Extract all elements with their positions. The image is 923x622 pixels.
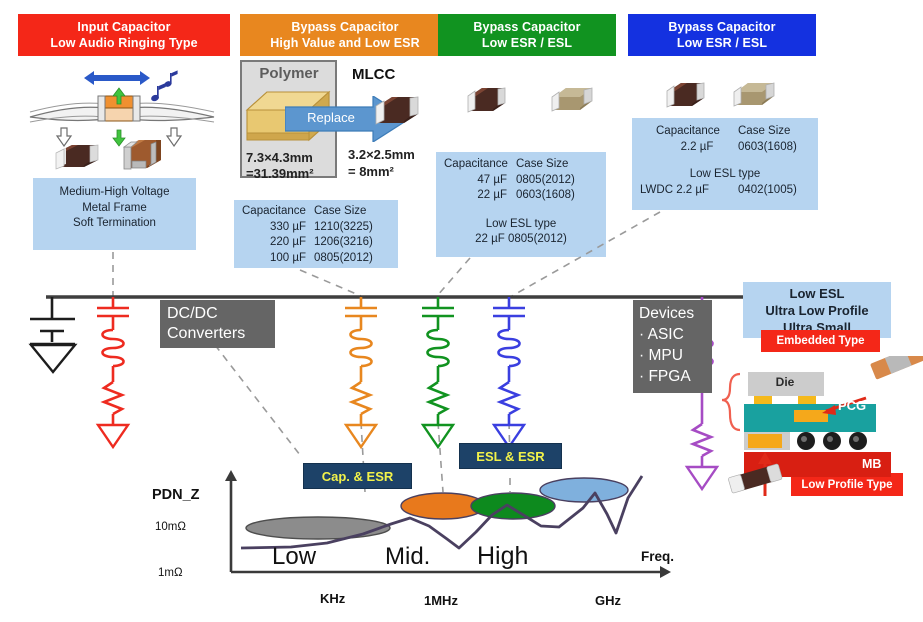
dcdc-line1: DC/DC xyxy=(167,304,268,324)
mb-label: MB xyxy=(862,457,881,471)
dcdc-line2: Converters xyxy=(167,324,268,344)
chart-band-label-high: High xyxy=(477,542,528,571)
rlc-branch-green xyxy=(422,297,454,447)
pdn-impedance-chart xyxy=(195,460,695,605)
chart-xtick-1mhz: 1MHz xyxy=(424,593,458,608)
y-axis-arrowhead xyxy=(225,470,237,481)
pcg-label: PCG xyxy=(838,398,866,413)
chart-band-label-mid: Mid. xyxy=(385,543,430,571)
devices-item: · ASIC xyxy=(639,324,706,345)
tag-embedded-type: Embedded Type xyxy=(761,330,880,352)
die-label: Die xyxy=(748,375,822,389)
chart-xtick-khz: KHz xyxy=(320,591,345,606)
devices-block: Devices · ASIC · MPU · FPGA xyxy=(633,300,712,393)
chart-xtick-ghz: GHz xyxy=(595,593,621,608)
chart-xlabel-freq: Freq. xyxy=(641,549,674,564)
band-ellipse-mid xyxy=(471,493,555,519)
voltage-source-symbol xyxy=(30,297,75,344)
embedded-capacitor-chip xyxy=(870,356,923,380)
devices-item: · MPU xyxy=(639,345,706,366)
dcdc-converters-block: DC/DC Converters xyxy=(160,300,275,348)
tag-cap-esr: Cap. & ESR xyxy=(303,463,412,489)
rlc-branch-blue xyxy=(493,297,525,447)
summary-line: Low ESL xyxy=(743,285,891,302)
chart-ytick-1mohm: 1mΩ xyxy=(158,567,183,579)
band-ellipse-esl-esr xyxy=(540,478,628,502)
chart-ytick-10mohm: 10mΩ xyxy=(155,521,186,533)
devices-title: Devices xyxy=(639,303,706,324)
band-ellipse-dcdc xyxy=(246,517,390,539)
chart-band-label-low: Low xyxy=(272,543,316,571)
chart-ylabel: PDN_Z xyxy=(152,487,200,503)
tag-esl-esr: ESL & ESR xyxy=(459,443,562,469)
x-axis-arrowhead xyxy=(660,566,671,578)
devices-item: · FPGA xyxy=(639,366,706,387)
bracket-icon xyxy=(722,374,740,430)
ground-symbol xyxy=(31,345,75,372)
summary-line: Ultra Low Profile xyxy=(743,302,891,319)
rlc-branch-red xyxy=(97,297,129,447)
rlc-branch-orange xyxy=(345,297,377,447)
